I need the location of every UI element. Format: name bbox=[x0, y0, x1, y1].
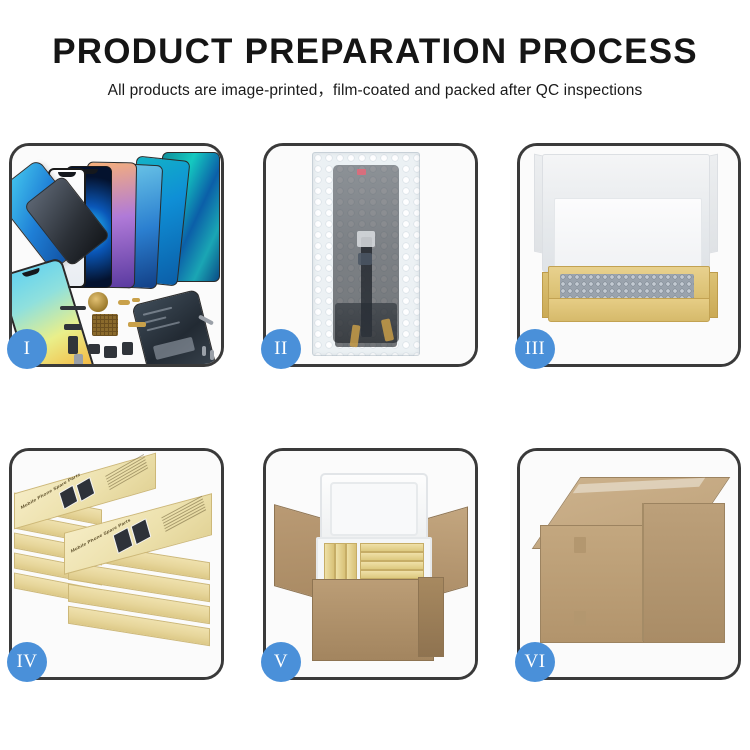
panel-6-numeral-badge: VI bbox=[515, 642, 555, 682]
packed-retail-box bbox=[360, 561, 424, 570]
packed-retail-box bbox=[360, 543, 424, 552]
packed-retail-box bbox=[324, 543, 335, 581]
box-spec-lines bbox=[161, 496, 206, 534]
foam-lid bbox=[320, 473, 428, 545]
carton-front-face bbox=[540, 525, 646, 643]
panel-2-image bbox=[266, 146, 475, 364]
panel-4-image: Mobile Phone Spare Parts Mobile Phone Sp… bbox=[12, 451, 221, 677]
red-qc-sticker bbox=[357, 169, 366, 175]
panel-4-numeral-badge: IV bbox=[7, 642, 47, 682]
process-panel-5[interactable]: V bbox=[263, 448, 478, 680]
process-panel-2[interactable]: II bbox=[263, 143, 478, 367]
flex-strip-part bbox=[64, 324, 82, 330]
packed-retail-box bbox=[335, 543, 346, 581]
page-title: PRODUCT PREPARATION PROCESS bbox=[0, 0, 750, 69]
phone-notch-2-icon bbox=[22, 268, 41, 278]
board-trace bbox=[143, 307, 173, 316]
screw-part bbox=[202, 346, 206, 356]
bubble-wrap-bag bbox=[312, 152, 420, 356]
earpiece-mesh-part bbox=[60, 306, 86, 310]
panel-3-image bbox=[520, 146, 738, 364]
speaker-part bbox=[104, 346, 117, 358]
flex-cable-part bbox=[118, 300, 130, 305]
box-spec-lines bbox=[105, 454, 148, 492]
antenna-flex-part bbox=[128, 322, 146, 327]
board-trace bbox=[147, 321, 180, 331]
panel-2-numeral-badge: II bbox=[261, 329, 301, 369]
process-panel-3[interactable]: III bbox=[517, 143, 741, 367]
box-artwork-screen bbox=[76, 477, 96, 502]
screen-connector bbox=[357, 231, 375, 247]
board-module bbox=[153, 337, 195, 360]
packed-retail-box bbox=[360, 570, 424, 579]
panel-5-numeral-badge: V bbox=[261, 642, 301, 682]
box-artwork-screen bbox=[131, 518, 152, 545]
sim-tray-part bbox=[74, 354, 83, 364]
panel-6-image bbox=[520, 451, 738, 677]
panel-5-image bbox=[266, 451, 475, 677]
packed-retail-box bbox=[360, 552, 424, 561]
camera-module-part bbox=[88, 344, 100, 354]
process-panel-4[interactable]: Mobile Phone Spare Parts Mobile Phone Sp… bbox=[9, 448, 224, 680]
board-trace bbox=[145, 316, 167, 323]
foam-lid-inner bbox=[330, 482, 418, 536]
screen-driver-chip bbox=[358, 253, 372, 265]
packed-retail-box bbox=[346, 543, 357, 581]
process-panel-1[interactable]: I bbox=[9, 143, 224, 367]
screw-part bbox=[210, 350, 214, 360]
carton-tab-sticker bbox=[574, 537, 586, 553]
process-panel-6[interactable]: VI bbox=[517, 448, 741, 680]
panel-1-image bbox=[12, 146, 221, 364]
connector-part bbox=[132, 298, 140, 302]
carton-corner-seam bbox=[642, 503, 644, 641]
screen-flex-cable bbox=[361, 237, 372, 337]
panel-3-numeral-badge: III bbox=[515, 329, 555, 369]
taptic-part bbox=[122, 342, 133, 355]
carton-right-face bbox=[643, 503, 725, 643]
box-artwork-screen bbox=[113, 527, 134, 554]
box-artwork-screen bbox=[59, 485, 79, 510]
screw-tray-part bbox=[92, 314, 118, 336]
carton-body bbox=[312, 579, 434, 661]
foam-sheet bbox=[554, 198, 702, 272]
vibration-motor-part bbox=[88, 292, 108, 312]
kraft-box-front bbox=[548, 298, 710, 322]
page-header: PRODUCT PREPARATION PROCESS All products… bbox=[0, 0, 750, 130]
carton-tab-sticker-lower bbox=[574, 611, 586, 625]
process-panel-grid: I II bbox=[9, 140, 741, 685]
carton-body-side bbox=[418, 577, 444, 657]
panel-1-numeral-badge: I bbox=[7, 329, 47, 369]
button-flex-part bbox=[68, 336, 78, 354]
page-subtitle: All products are image-printed，film-coat… bbox=[0, 69, 750, 99]
